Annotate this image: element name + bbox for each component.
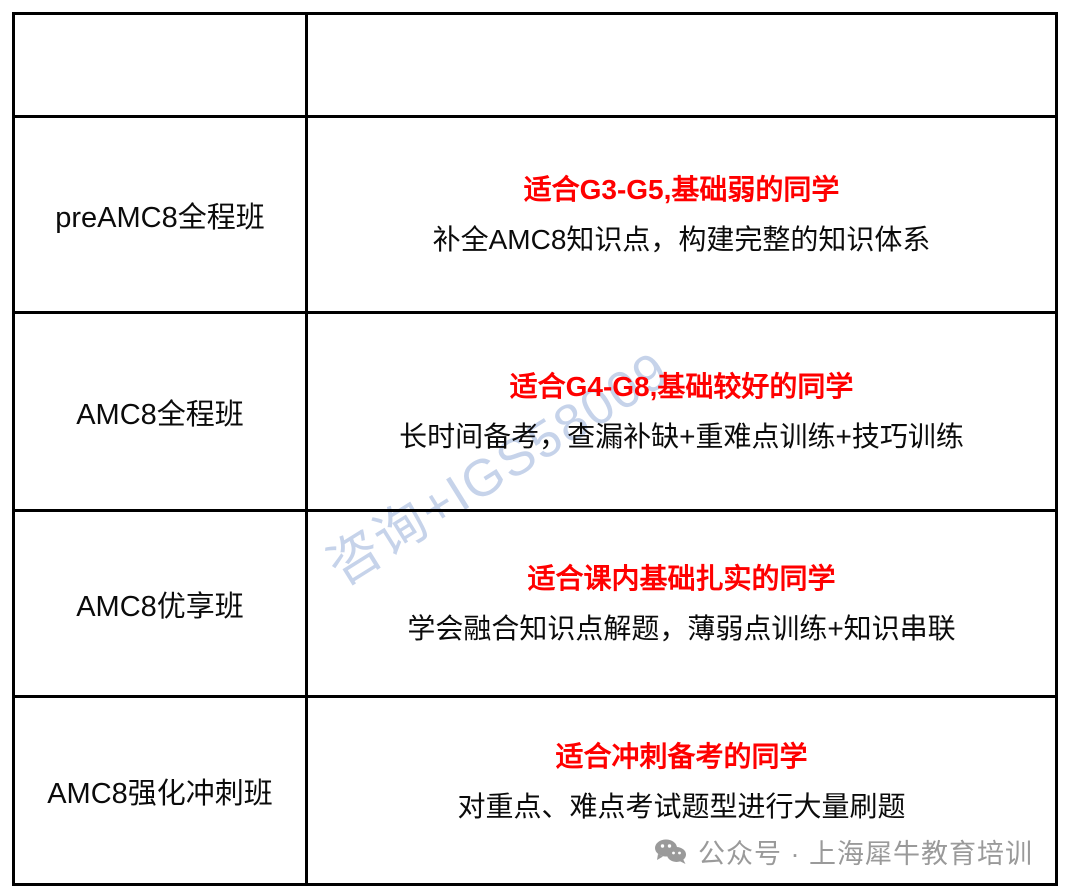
cell-audience: 适合课内基础扎实的同学 学会融合知识点解题，薄弱点训练+知识串联 <box>307 511 1057 697</box>
footer-brand: 公众号 · 上海犀牛教育培训 <box>654 832 1033 871</box>
course-name-label: AMC8全程班 <box>15 391 305 433</box>
cell-course-name: AMC8强化冲刺班 <box>14 697 307 885</box>
course-name-label: AMC8优享班 <box>15 583 305 625</box>
table-row: AMC8优享班 适合课内基础扎实的同学 学会融合知识点解题，薄弱点训练+知识串联 <box>14 511 1057 697</box>
audience-detail: 学会融合知识点解题，薄弱点训练+知识串联 <box>308 610 1055 648</box>
column-header-course-schedule: 课程安排 <box>14 14 307 117</box>
table-row: AMC8强化冲刺班 适合冲刺备考的同学 对重点、难点考试题型进行大量刷题 <box>14 697 1057 885</box>
cell-audience: 适合G4-G8,基础较好的同学 长时间备考，查漏补缺+重难点训练+技巧训练 <box>307 313 1057 511</box>
wechat-icon <box>654 838 688 866</box>
table-row: preAMC8全程班 适合G3-G5,基础弱的同学 补全AMC8知识点，构建完整… <box>14 117 1057 313</box>
course-table-container: 课程安排 适合人群 preAMC8全程班 适合G3-G5,基础弱的同学 补全AM… <box>12 12 1055 868</box>
audience-detail: 对重点、难点考试题型进行大量刷题 <box>457 788 905 826</box>
cell-course-name: AMC8全程班 <box>14 313 307 511</box>
table-row: AMC8全程班 适合G4-G8,基础较好的同学 长时间备考，查漏补缺+重难点训练… <box>14 313 1057 511</box>
audience-detail: 长时间备考，查漏补缺+重难点训练+技巧训练 <box>308 418 1055 456</box>
course-name-label: AMC8强化冲刺班 <box>15 770 305 812</box>
cell-course-name: preAMC8全程班 <box>14 117 307 313</box>
cell-course-name: AMC8优享班 <box>14 511 307 697</box>
cell-audience: 适合冲刺备考的同学 对重点、难点考试题型进行大量刷题 <box>307 697 1057 885</box>
column-header-target-audience-label: 适合人群 <box>308 46 1055 85</box>
course-comparison-table: 课程安排 适合人群 preAMC8全程班 适合G3-G5,基础弱的同学 补全AM… <box>12 12 1058 886</box>
column-header-course-schedule-label: 课程安排 <box>15 46 305 85</box>
audience-headline: 适合冲刺备考的同学 <box>555 738 807 776</box>
audience-detail: 补全AMC8知识点，构建完整的知识体系 <box>308 221 1055 259</box>
footer-brand-text: 公众号 · 上海犀牛教育培训 <box>698 832 1033 871</box>
column-header-target-audience: 适合人群 <box>307 14 1057 117</box>
course-name-label: preAMC8全程班 <box>15 194 305 236</box>
table-body: preAMC8全程班 适合G3-G5,基础弱的同学 补全AMC8知识点，构建完整… <box>14 117 1057 885</box>
audience-headline: 适合G4-G8,基础较好的同学 <box>308 368 1055 406</box>
cell-audience: 适合G3-G5,基础弱的同学 补全AMC8知识点，构建完整的知识体系 <box>307 117 1057 313</box>
table-header-row: 课程安排 适合人群 <box>14 14 1057 117</box>
audience-headline: 适合G3-G5,基础弱的同学 <box>308 171 1055 209</box>
table-header: 课程安排 适合人群 <box>14 14 1057 117</box>
audience-headline: 适合课内基础扎实的同学 <box>308 560 1055 598</box>
